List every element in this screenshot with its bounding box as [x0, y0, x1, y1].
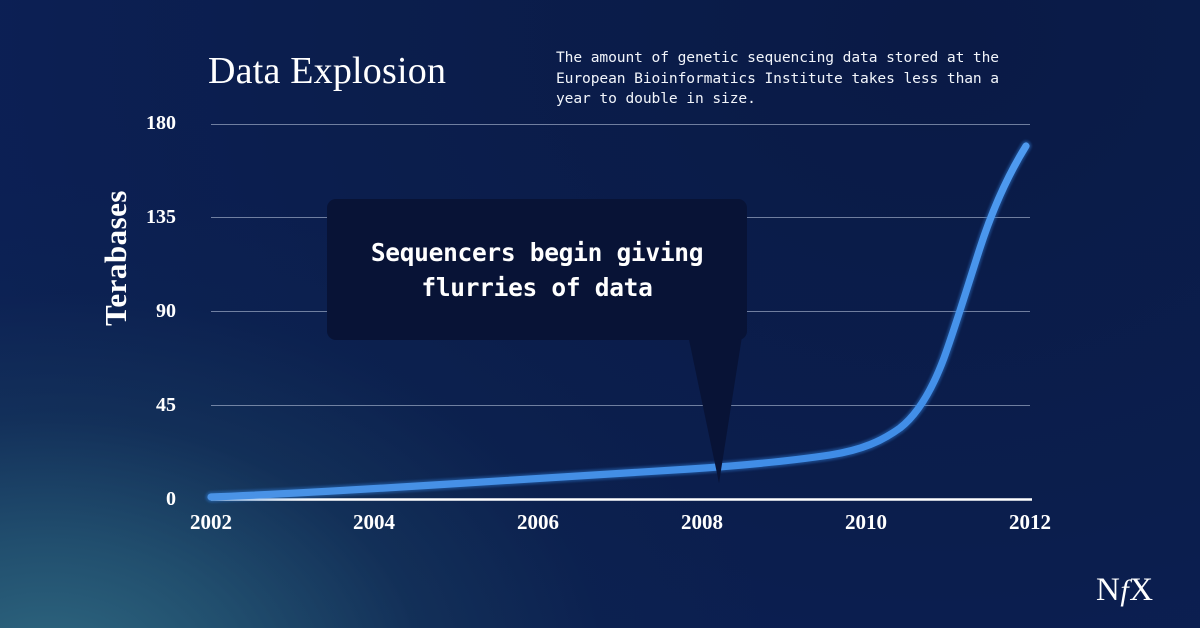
x-tick-2006: 2006 [483, 510, 593, 535]
x-tick-2010: 2010 [811, 510, 921, 535]
y-tick-135: 135 [106, 206, 176, 229]
x-tick-2002: 2002 [156, 510, 266, 535]
x-tick-2012: 2012 [975, 510, 1085, 535]
y-axis-title: Terabases [98, 128, 134, 388]
callout-text: Sequencers begin giving flurries of data [359, 235, 715, 305]
y-tick-45: 45 [106, 394, 176, 417]
logo-suffix: X [1129, 572, 1153, 608]
y-tick-180: 180 [106, 112, 176, 135]
y-tick-90: 90 [106, 300, 176, 323]
x-tick-2004: 2004 [319, 510, 429, 535]
x-tick-2008: 2008 [647, 510, 757, 535]
logo-middle: f [1120, 574, 1129, 607]
nfx-logo: NfX [1096, 572, 1154, 609]
infographic-canvas: Data Explosion The amount of genetic seq… [0, 0, 1200, 628]
callout-box: Sequencers begin giving flurries of data [327, 199, 747, 340]
y-tick-0: 0 [106, 488, 176, 511]
callout-pointer [687, 330, 743, 483]
logo-prefix: N [1096, 572, 1120, 608]
